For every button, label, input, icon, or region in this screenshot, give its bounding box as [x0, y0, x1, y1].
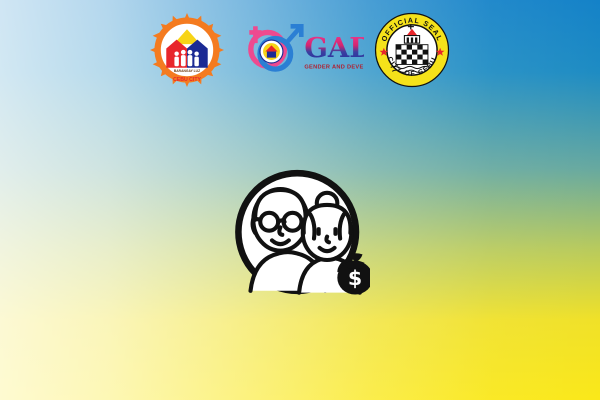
event-poster: BARANGAY LUZ CEBU CITY — [0, 0, 600, 400]
svg-text:CEBU CITY: CEBU CITY — [173, 77, 201, 83]
svg-text:$: $ — [348, 266, 362, 290]
svg-text:GAD: GAD — [304, 32, 364, 64]
gad-logo: GAD GENDER AND DEVELOPMENT — [234, 17, 364, 83]
senior-couple-money-bag-icon: $ — [230, 162, 370, 302]
barangay-luz-logo: BARANGAY LUZ CEBU CITY — [150, 13, 224, 87]
svg-text:BARANGAY LUZ: BARANGAY LUZ — [174, 69, 200, 73]
cebu-city-seal: OFFICIAL SEAL CITY OF CEBU — [374, 12, 450, 88]
logo-row: BARANGAY LUZ CEBU CITY — [0, 10, 600, 90]
svg-text:GENDER AND DEVELOPMENT: GENDER AND DEVELOPMENT — [304, 64, 364, 70]
